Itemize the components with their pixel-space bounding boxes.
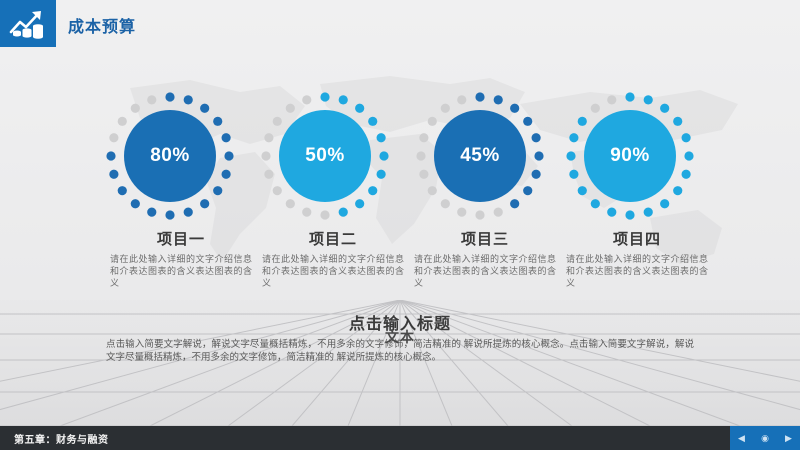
item-body-4: 请在此处输入详细的文字介绍信息和介表达图表的含义表达图表的含义 [562,253,712,289]
kpi-value-3: 45% [434,110,526,202]
item-title-2: 项目二 [258,228,408,249]
item-title-1: 项目一 [106,228,256,249]
kpi-circle-3[interactable]: 45% [410,86,550,226]
item-block-1: 项目一 请在此处输入详细的文字介绍信息和介表达图表的含义表达图表的含义 [106,228,256,289]
footer-bar: 第五章：财务与融资 ◀ ◉ ▶ [0,426,800,450]
home-icon[interactable]: ◉ [761,434,769,443]
item-body-1: 请在此处输入详细的文字介绍信息和介表达图表的含义表达图表的含义 [106,253,256,289]
footer-chapter-label: 第五章：财务与融资 [14,431,109,446]
page-title: 成本预算 [68,13,136,37]
item-caption-row: 项目一 请在此处输入详细的文字介绍信息和介表达图表的含义表达图表的含义 项目二 … [0,228,800,318]
slide-canvas: 成本预算 80% 50% 45% 90% 项目一 请在此处输入详细的文字介绍信息… [0,0,800,450]
item-block-2: 项目二 请在此处输入详细的文字介绍信息和介表达图表的含义表达图表的含义 [258,228,408,289]
growth-chart-coins-icon [8,7,48,41]
item-body-2: 请在此处输入详细的文字介绍信息和介表达图表的含义表达图表的含义 [258,253,408,289]
kpi-circle-2[interactable]: 50% [255,86,395,226]
center-heading: 点击输入标题 文本 [100,316,700,333]
prev-icon[interactable]: ◀ [738,434,745,443]
kpi-value-2: 50% [279,110,371,202]
footer-navigation: ◀ ◉ ▶ [730,426,800,450]
brand-logo [0,0,56,47]
item-title-4: 项目四 [562,228,712,249]
kpi-circle-row: 80% 50% 45% 90% [0,86,800,226]
kpi-value-4: 90% [584,110,676,202]
item-block-3: 项目三 请在此处输入详细的文字介绍信息和介表达图表的含义表达图表的含义 [410,228,560,289]
center-text-block: 点击输入标题 文本 点击输入简要文字解说，解说文字尽量概括精炼，不用多余的文字修… [100,316,700,364]
kpi-value-1: 80% [124,110,216,202]
kpi-circle-1[interactable]: 80% [100,86,240,226]
next-icon[interactable]: ▶ [785,434,792,443]
center-heading-line2: 文本 [100,329,700,346]
item-title-3: 项目三 [410,228,560,249]
item-body-3: 请在此处输入详细的文字介绍信息和介表达图表的含义表达图表的含义 [410,253,560,289]
item-block-4: 项目四 请在此处输入详细的文字介绍信息和介表达图表的含义表达图表的含义 [562,228,712,289]
kpi-circle-4[interactable]: 90% [560,86,700,226]
